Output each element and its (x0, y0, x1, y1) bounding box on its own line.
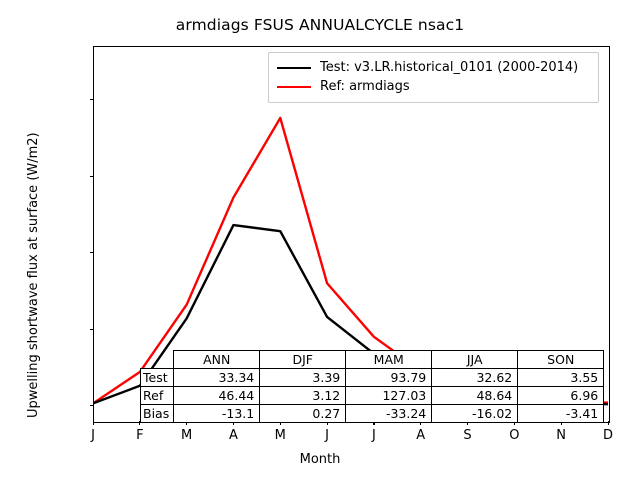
table-cell: 3.55 (518, 369, 604, 387)
table-cell: -13.1 (174, 405, 260, 423)
table-cell: -3.41 (518, 405, 604, 423)
table-row: Ref46.443.12127.0348.646.96 (141, 387, 604, 405)
table-column-header: DJF (260, 351, 346, 369)
x-tick-label: J (354, 428, 394, 443)
x-tick-label: N (541, 428, 581, 443)
x-tick-label: D (588, 428, 628, 443)
y-axis-label: Upwelling shortwave flux at surface (W/m… (26, 132, 41, 418)
table-cell: 93.79 (346, 369, 432, 387)
table-header-row: ANNDJFMAMJJASON (141, 351, 604, 369)
x-tick-label: J (73, 428, 113, 443)
x-tick-label: M (260, 428, 300, 443)
table-row-label: Ref (141, 387, 174, 405)
x-tick-label: S (448, 428, 488, 443)
table-cell: 6.96 (518, 387, 604, 405)
table-row: Test33.343.3993.7932.623.55 (141, 369, 604, 387)
table-cell: 48.64 (432, 387, 518, 405)
x-tick-label: O (494, 428, 534, 443)
y-tick-mark (90, 405, 94, 406)
y-tick-mark (90, 176, 94, 177)
table-cell: 33.34 (174, 369, 260, 387)
legend-item-ref: Ref: armdiags (277, 77, 590, 96)
table-cell: -33.24 (346, 405, 432, 423)
table-cell: 3.12 (260, 387, 346, 405)
table-cell: -16.02 (432, 405, 518, 423)
x-tick-label: M (167, 428, 207, 443)
x-tick-mark (93, 421, 94, 425)
legend-label-test: Test: v3.LR.historical_0101 (2000-2014) (320, 60, 578, 75)
y-tick-mark (90, 99, 94, 100)
table-cell: 0.27 (260, 405, 346, 423)
chart-figure: armdiags FSUS ANNUALCYCLE nsac1 05010015… (0, 0, 640, 480)
table-cell: 127.03 (346, 387, 432, 405)
table-column-header: JJA (432, 351, 518, 369)
page-title: armdiags FSUS ANNUALCYCLE nsac1 (0, 16, 640, 34)
legend-item-test: Test: v3.LR.historical_0101 (2000-2014) (277, 58, 590, 77)
table-cell: 46.44 (174, 387, 260, 405)
table-column-header: ANN (174, 351, 260, 369)
table-row-label: Test (141, 369, 174, 387)
x-tick-label: J (307, 428, 347, 443)
table-cell: 3.39 (260, 369, 346, 387)
legend-swatch-ref (277, 86, 311, 88)
x-tick-mark (608, 421, 609, 425)
statistics-table: ANNDJFMAMJJASON Test33.343.3993.7932.623… (140, 350, 604, 423)
legend-swatch-test (277, 67, 311, 69)
x-axis-label: Month (0, 452, 640, 467)
table-column-header: SON (518, 351, 604, 369)
table-body: Test33.343.3993.7932.623.55Ref46.443.121… (141, 369, 604, 423)
y-tick-mark (90, 329, 94, 330)
table-row-label: Bias (141, 405, 174, 423)
table-corner-cell (141, 351, 174, 369)
table-cell: 32.62 (432, 369, 518, 387)
table-column-header: MAM (346, 351, 432, 369)
x-tick-label: A (213, 428, 253, 443)
legend: Test: v3.LR.historical_0101 (2000-2014) … (268, 52, 599, 103)
x-tick-label: F (120, 428, 160, 443)
table-row: Bias-13.10.27-33.24-16.02-3.41 (141, 405, 604, 423)
x-tick-label: A (401, 428, 441, 443)
legend-label-ref: Ref: armdiags (320, 79, 410, 94)
y-tick-mark (90, 252, 94, 253)
